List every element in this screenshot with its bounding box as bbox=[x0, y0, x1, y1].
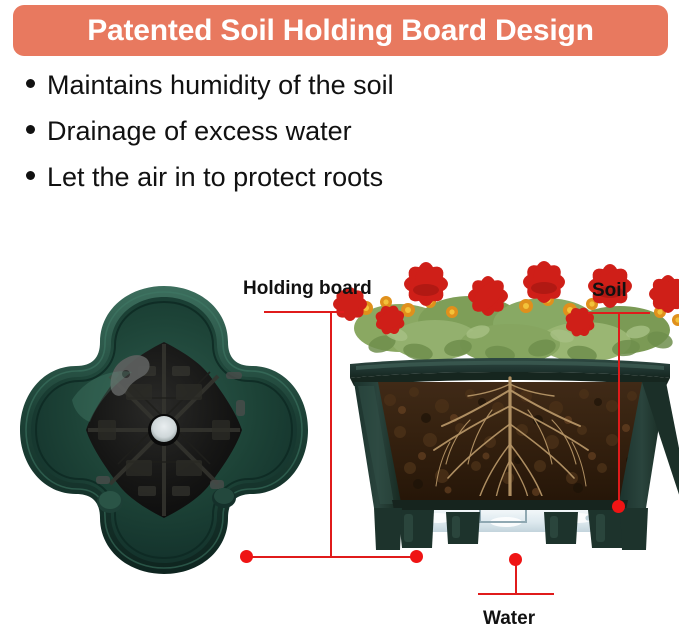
leader-dot-holding-board-left bbox=[240, 550, 253, 563]
list-item: Maintains humidity of the soil bbox=[26, 72, 646, 118]
header-banner: Patented Soil Holding Board Design bbox=[13, 5, 668, 56]
bullet-point-icon bbox=[26, 79, 35, 88]
leader-line-holding-board-stem bbox=[330, 311, 332, 557]
annotation-label-soil: Soil bbox=[592, 281, 627, 300]
drainage-hole bbox=[151, 416, 177, 442]
holding-board-image bbox=[14, 280, 314, 580]
annotation-label-water: Water bbox=[483, 609, 535, 628]
leader-line-soil-stem bbox=[618, 312, 620, 508]
leader-dot-water bbox=[509, 553, 522, 566]
feature-text: Maintains humidity of the soil bbox=[47, 72, 394, 99]
leader-line-holding-board-right bbox=[331, 556, 416, 558]
leader-line-holding-board-left bbox=[247, 556, 331, 558]
feature-text: Let the air in to protect roots bbox=[47, 164, 383, 191]
planter-cross-section-image bbox=[330, 260, 679, 590]
leader-dot-holding-board-right bbox=[410, 550, 423, 563]
page-title: Patented Soil Holding Board Design bbox=[87, 16, 594, 46]
feature-list: Maintains humidity of the soil Drainage … bbox=[26, 72, 646, 210]
product-diagram: Holding board Soil Water bbox=[0, 255, 679, 638]
leader-dot-soil bbox=[612, 500, 625, 513]
leader-line-holding-board-bar bbox=[264, 311, 344, 313]
list-item: Let the air in to protect roots bbox=[26, 164, 646, 210]
bullet-point-icon bbox=[26, 171, 35, 180]
bullet-point-icon bbox=[26, 125, 35, 134]
feature-text: Drainage of excess water bbox=[47, 118, 352, 145]
soil-region bbox=[374, 378, 646, 500]
annotation-label-holding-board: Holding board bbox=[243, 279, 372, 298]
list-item: Drainage of excess water bbox=[26, 118, 646, 164]
